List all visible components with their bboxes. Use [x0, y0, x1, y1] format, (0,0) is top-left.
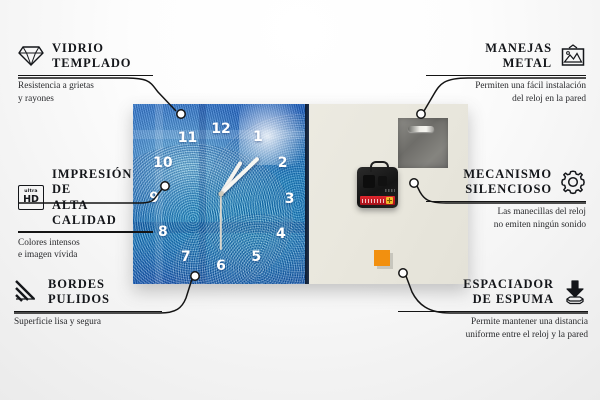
callout-title: VIDRIO TEMPLADO	[52, 41, 131, 72]
infographic-canvas: 12 1 2 3 4 5 6 7 8 9 10 11	[0, 0, 600, 400]
callout-desc-line1: Permiten una fácil instalación	[426, 80, 586, 93]
callout-desc-line1: Las manecillas del reloj	[426, 206, 586, 219]
callout-desc-line2: del reloj en la pared	[426, 93, 586, 106]
callout-mecanismo-silencioso[interactable]: MECANISMO SILENCIOSO Las manecillas del …	[426, 167, 586, 231]
callout-title-line2: SILENCIOSO	[463, 182, 552, 197]
hanger-slot	[408, 126, 434, 132]
callout-title: BORDES PULIDOS	[48, 277, 110, 308]
callout-description: Permite mantener una distancia uniforme …	[398, 316, 588, 341]
callout-vidrio-templado[interactable]: VIDRIO TEMPLADO Resistencia a grietas y …	[18, 41, 153, 105]
metal-hanger-plate	[398, 118, 448, 168]
mechanism-slot	[363, 175, 375, 188]
callout-desc-line1: Superficie lisa y segura	[14, 316, 162, 329]
clock-numeral-6: 6	[216, 259, 226, 273]
callout-description: Colores intensos e imagen vívida	[18, 237, 153, 262]
callout-title: MECANISMO SILENCIOSO	[463, 167, 552, 198]
callout-impresion-alta-calidad[interactable]: ultra HD IMPRESIÓN DE ALTA CALIDAD Color…	[18, 167, 153, 262]
callout-desc-line2: e imagen vívida	[18, 249, 153, 262]
picture-hanger-icon	[560, 43, 586, 69]
clock-face-front: 12 1 2 3 4 5 6 7 8 9 10 11	[133, 104, 309, 284]
callout-desc-line2: uniforme entre el reloj y la pared	[398, 329, 588, 342]
callout-desc-line2: y rayones	[18, 93, 153, 106]
callout-title-line2: TEMPLADO	[52, 56, 131, 71]
callout-rule	[18, 75, 153, 77]
callout-description: Resistencia a grietas y rayones	[18, 80, 153, 105]
down-arrow-block-icon	[562, 279, 588, 305]
callout-bordes-pulidos[interactable]: BORDES PULIDOS Superficie lisa y segura	[14, 277, 162, 329]
clock-numeral-3: 3	[285, 192, 295, 206]
callout-rule	[398, 311, 588, 313]
clock-numeral-4: 4	[276, 227, 286, 241]
clock-numeral-8: 8	[158, 225, 168, 239]
callout-title-line2: ALTA CALIDAD	[52, 198, 153, 229]
callout-rule	[14, 311, 162, 313]
callout-manejas-metal[interactable]: MANEJAS METAL Permiten una fácil instala…	[426, 41, 586, 105]
callout-description: Permiten una fácil instalación del reloj…	[426, 80, 586, 105]
clock-numeral-12: 12	[211, 122, 230, 136]
callout-header: MANEJAS METAL	[426, 41, 586, 72]
callout-title: MANEJAS METAL	[485, 41, 552, 72]
ultra-hd-icon: ultra HD	[18, 185, 44, 211]
clock-center-cap	[219, 192, 224, 197]
callout-title-line1: ESPACIADOR	[463, 277, 554, 292]
callout-title-line1: MECANISMO	[463, 167, 552, 182]
diagonal-lines-icon	[14, 279, 40, 305]
callout-title-line2: DE ESPUMA	[463, 292, 554, 307]
clock-numeral-10: 10	[153, 156, 172, 170]
mechanism-label-strip	[385, 189, 395, 192]
callout-header: VIDRIO TEMPLADO	[18, 41, 153, 72]
callout-rule	[426, 75, 586, 77]
callout-title-line1: IMPRESIÓN DE	[52, 167, 153, 198]
callout-desc-line1: Colores intensos	[18, 237, 153, 250]
battery-label	[362, 199, 386, 203]
callout-header: BORDES PULIDOS	[14, 277, 162, 308]
clock-numeral-7: 7	[181, 250, 191, 264]
callout-title: ESPACIADOR DE ESPUMA	[463, 277, 554, 308]
callout-desc-line1: Permite mantener una distancia	[398, 316, 588, 329]
callout-title-line2: METAL	[485, 56, 552, 71]
foam-spacer	[374, 250, 390, 266]
clock-numeral-5: 5	[251, 250, 261, 264]
callout-desc-line1: Resistencia a grietas	[18, 80, 153, 93]
callout-header: MECANISMO SILENCIOSO	[426, 167, 586, 198]
callout-rule	[426, 201, 586, 203]
callout-title-line2: PULIDOS	[48, 292, 110, 307]
clock-numeral-11: 11	[178, 131, 197, 145]
callout-espaciador-espuma[interactable]: ESPACIADOR DE ESPUMA Permite mantener un…	[398, 277, 588, 341]
ultra-hd-icon-bottom-text: HD	[23, 195, 39, 205]
callout-title-line1: BORDES	[48, 277, 110, 292]
clock-numeral-1: 1	[253, 130, 263, 144]
callout-title: IMPRESIÓN DE ALTA CALIDAD	[52, 167, 153, 228]
callout-description: Las manecillas del reloj no emiten ningú…	[426, 206, 586, 231]
callout-title-line1: MANEJAS	[485, 41, 552, 56]
gear-icon	[560, 169, 586, 195]
mechanism-slot	[378, 176, 387, 186]
product-photo: 12 1 2 3 4 5 6 7 8 9 10 11	[133, 104, 468, 284]
callout-description: Superficie lisa y segura	[14, 316, 162, 329]
callout-header: ultra HD IMPRESIÓN DE ALTA CALIDAD	[18, 167, 153, 228]
battery	[360, 196, 395, 205]
callout-title-line1: VIDRIO	[52, 41, 131, 56]
clock-mechanism	[357, 167, 398, 208]
clock-second-hand	[220, 194, 222, 250]
highlight-glow	[239, 104, 309, 165]
diamond-icon	[18, 43, 44, 69]
callout-header: ESPACIADOR DE ESPUMA	[398, 277, 588, 308]
clock-numeral-2: 2	[278, 156, 288, 170]
mechanism-hanger-loop	[370, 161, 389, 172]
battery-plus-terminal	[386, 197, 393, 204]
callout-desc-line2: no emiten ningún sonido	[426, 219, 586, 232]
callout-rule	[18, 231, 153, 233]
